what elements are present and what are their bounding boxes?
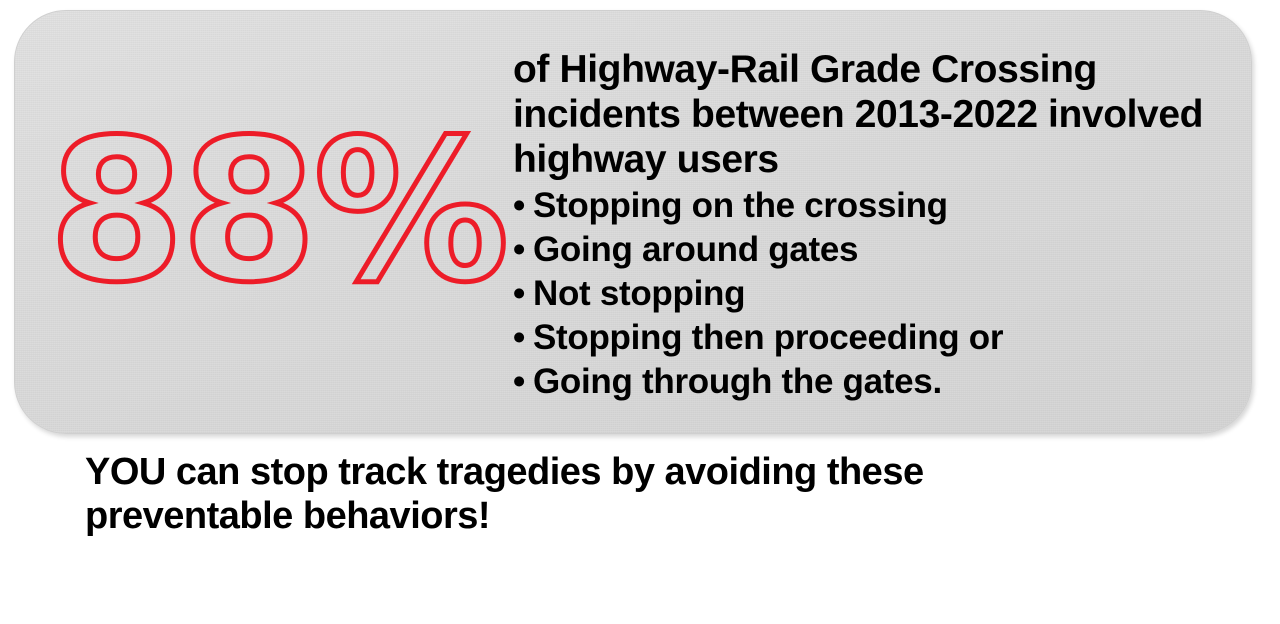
bullet-marker-icon: • bbox=[513, 184, 533, 228]
big-percentage-stat: 88% bbox=[67, 107, 487, 317]
bullet-marker-icon: • bbox=[513, 316, 533, 360]
statistic-card: 88% of Highway-Rail Grade Crossing incid… bbox=[14, 10, 1252, 434]
bullet-marker-icon: • bbox=[513, 228, 533, 272]
caption-line-2: preventable behaviors! bbox=[85, 494, 1185, 538]
list-item-label: Stopping on the crossing bbox=[533, 184, 948, 228]
list-item: • Going through the gates. bbox=[513, 360, 1243, 404]
list-item: • Not stopping bbox=[513, 272, 1243, 316]
call-to-action-caption: YOU can stop track tragedies by avoiding… bbox=[85, 450, 1185, 538]
bullet-marker-icon: • bbox=[513, 272, 533, 316]
headline-text: of Highway-Rail Grade Crossing incidents… bbox=[513, 47, 1243, 182]
list-item-label: Going through the gates. bbox=[533, 360, 942, 404]
list-item-label: Stopping then proceeding or bbox=[533, 316, 1003, 360]
list-item-label: Not stopping bbox=[533, 272, 745, 316]
list-item: • Going around gates bbox=[513, 228, 1243, 272]
list-item-label: Going around gates bbox=[533, 228, 858, 272]
list-item: • Stopping then proceeding or bbox=[513, 316, 1243, 360]
card-copy-block: of Highway-Rail Grade Crossing incidents… bbox=[513, 47, 1243, 404]
bullet-marker-icon: • bbox=[513, 360, 533, 404]
behaviors-bullet-list: • Stopping on the crossing • Going aroun… bbox=[513, 184, 1243, 404]
caption-line-1: YOU can stop track tragedies by avoiding… bbox=[85, 450, 1185, 494]
list-item: • Stopping on the crossing bbox=[513, 184, 1243, 228]
